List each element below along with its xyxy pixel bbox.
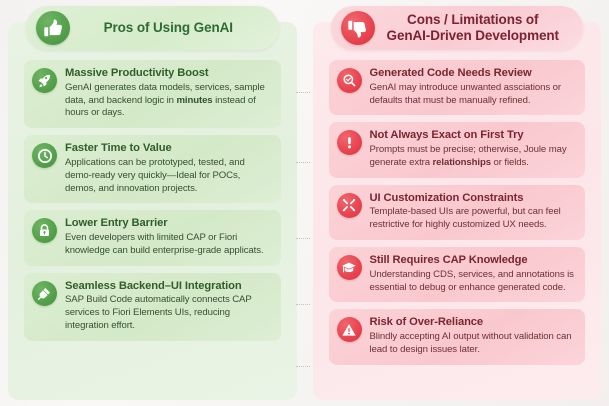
graduation-cap-icon xyxy=(337,255,362,280)
card-description: SAP Build Code automatically connects CA… xyxy=(65,294,272,333)
connector-tick-1 xyxy=(296,92,310,93)
card-title: Risk of Over-Reliance xyxy=(370,316,577,330)
thumbs-down-icon xyxy=(341,11,375,45)
card-title: Still Requires CAP Knowledge xyxy=(370,254,577,268)
connector-tick-2 xyxy=(296,162,310,163)
pros-card-seamless-backend-ui-integration[interactable]: Seamless Backend–UI Integration SAP Buil… xyxy=(24,273,281,341)
card-title: UI Customization Constraints xyxy=(370,192,577,206)
plug-connector-icon xyxy=(32,281,57,306)
card-description: GenAI may introduce unwanted assciations… xyxy=(370,82,577,108)
card-title: Massive Productivity Boost xyxy=(65,67,272,81)
card-title: Lower Entry Barrier xyxy=(65,217,272,231)
cons-card-ui-customization-constraints[interactable]: UI Customization Constraints Template-ba… xyxy=(329,185,586,240)
cons-card-not-always-exact-on-first-try[interactable]: Not Always Exact on First Try Prompts mu… xyxy=(329,122,586,177)
lock-icon xyxy=(32,218,57,243)
card-description: Prompts must be precise; otherwise, Joul… xyxy=(370,144,577,170)
card-description: Template-based UIs are powerful, but can… xyxy=(370,206,577,232)
cons-header-title-line2: GenAI-Driven Development xyxy=(387,28,559,43)
pros-header-title: Pros of Using GenAI xyxy=(70,20,265,36)
clock-icon xyxy=(32,143,57,168)
connector-tick-4 xyxy=(296,304,310,305)
cons-card-still-requires-cap-knowledge[interactable]: Still Requires CAP Knowledge Understandi… xyxy=(329,247,586,302)
cons-header-title-line1: Cons / Limitations of xyxy=(407,12,538,27)
pros-column: Pros of Using GenAI Massive Productivity… xyxy=(0,0,305,406)
card-title: Seamless Backend–UI Integration xyxy=(65,280,272,294)
card-title: Not Always Exact on First Try xyxy=(370,129,577,143)
card-description: GenAI generates data models, services, s… xyxy=(65,82,272,121)
rocket-icon xyxy=(32,68,57,93)
thumbs-up-icon xyxy=(36,11,70,45)
pros-card-list: Massive Productivity Boost GenAI generat… xyxy=(14,60,291,406)
pros-cons-board: Pros of Using GenAI Massive Productivity… xyxy=(0,0,609,406)
cons-header: Cons / Limitations of GenAI-Driven Devel… xyxy=(331,6,584,50)
cons-column: Cons / Limitations of GenAI-Driven Devel… xyxy=(305,0,609,406)
card-description: Blindly accepting AI output without vali… xyxy=(370,331,577,357)
wrench-screwdriver-icon xyxy=(337,193,362,218)
cons-card-risk-of-over-reliance[interactable]: Risk of Over-Reliance Blindly accepting … xyxy=(329,309,586,364)
card-description: Understanding CDS, services, and annotat… xyxy=(370,269,577,295)
card-description: Even developers with limited CAP or Fior… xyxy=(65,232,272,258)
cons-header-title: Cons / Limitations of GenAI-Driven Devel… xyxy=(375,12,570,45)
card-description: Applications can be prototyped, tested, … xyxy=(65,157,272,196)
exclamation-circle-icon xyxy=(337,130,362,155)
pros-card-faster-time-to-value[interactable]: Faster Time to Value Applications can be… xyxy=(24,135,281,203)
magnifier-check-icon xyxy=(337,68,362,93)
cons-card-generated-code-needs-review[interactable]: Generated Code Needs Review GenAI may in… xyxy=(329,60,586,115)
pros-card-massive-productivity-boost[interactable]: Massive Productivity Boost GenAI generat… xyxy=(24,60,281,128)
warning-triangle-icon xyxy=(337,317,362,342)
pros-card-lower-entry-barrier[interactable]: Lower Entry Barrier Even developers with… xyxy=(24,210,281,265)
card-title: Generated Code Needs Review xyxy=(370,67,577,81)
connector-tick-5 xyxy=(296,366,310,367)
cons-card-list: Generated Code Needs Review GenAI may in… xyxy=(319,60,596,406)
card-title: Faster Time to Value xyxy=(65,142,272,156)
connector-tick-3 xyxy=(296,238,310,239)
pros-header: Pros of Using GenAI xyxy=(26,6,279,50)
